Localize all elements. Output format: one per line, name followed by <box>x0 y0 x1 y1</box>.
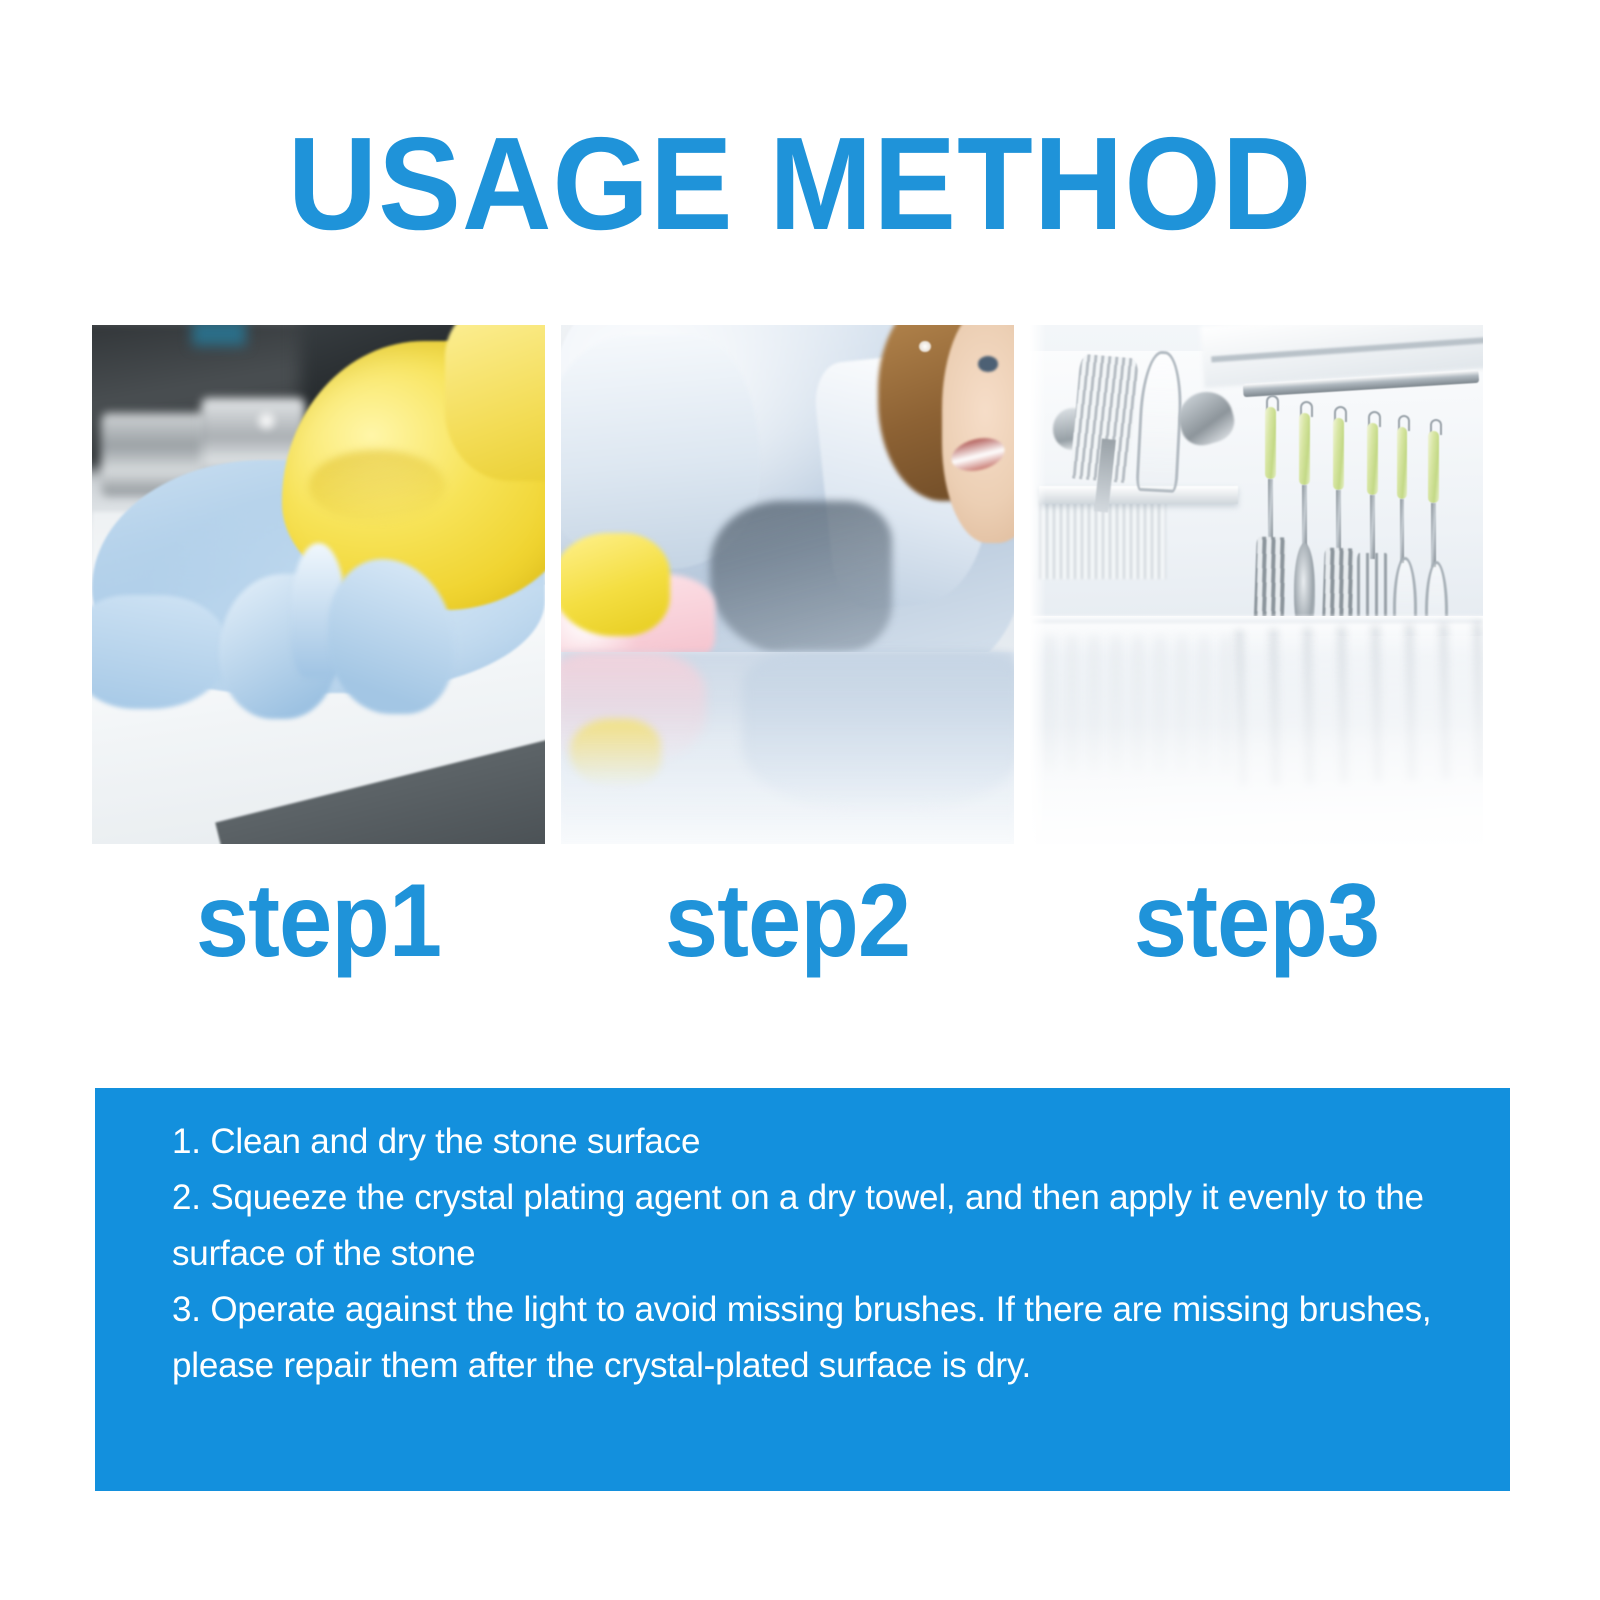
green-handle <box>1397 427 1407 499</box>
pot-highlight <box>255 408 278 434</box>
utensil-shaft <box>1370 495 1375 559</box>
utensil-shaft <box>1302 485 1307 549</box>
step3-image <box>1030 325 1483 844</box>
instruction-line-3: 3. Operate against the light to avoid mi… <box>172 1282 1470 1394</box>
step-label-row: step1 step2 step3 <box>92 866 1484 976</box>
shirt-reflection <box>742 652 1014 808</box>
step-label-2: step2 <box>579 866 996 976</box>
step-label-3: step3 <box>1048 866 1465 976</box>
step1-image <box>92 325 545 844</box>
glove-fold-shadow <box>309 450 445 523</box>
countertop-sheen <box>1030 636 1483 844</box>
utensil-shaft <box>1431 503 1436 567</box>
left-vignette <box>1030 325 1046 844</box>
green-handle <box>1299 413 1309 485</box>
teal-accent-blur <box>192 325 246 346</box>
step2-image <box>561 325 1014 844</box>
utensil-shaft <box>1336 490 1341 554</box>
eye <box>978 356 998 372</box>
green-handle <box>1428 431 1438 503</box>
glove-reflection <box>570 719 661 786</box>
yellow-glove <box>561 533 670 637</box>
step-image-strip <box>92 325 1484 844</box>
green-handle <box>1333 418 1343 490</box>
green-handle <box>1265 407 1275 479</box>
instruction-line-2: 2. Squeeze the crystal plating agent on … <box>172 1170 1470 1282</box>
step-label-1: step1 <box>110 866 527 976</box>
instructions-panel: 1. Clean and dry the stone surface 2. Sq… <box>95 1088 1510 1491</box>
earring <box>919 341 931 352</box>
utensil-shaft <box>1400 499 1405 563</box>
utensil-shaft <box>1268 479 1273 543</box>
countertop-front-edge <box>1030 616 1483 624</box>
green-handle <box>1367 423 1377 495</box>
wall-rack <box>1039 501 1166 579</box>
page-title: USAGE METHOD <box>48 118 1552 250</box>
instruction-line-1: 1. Clean and dry the stone surface <box>172 1114 1470 1170</box>
arm-shadow <box>710 501 891 657</box>
infographic-page: USAGE METHOD <box>0 0 1600 1600</box>
